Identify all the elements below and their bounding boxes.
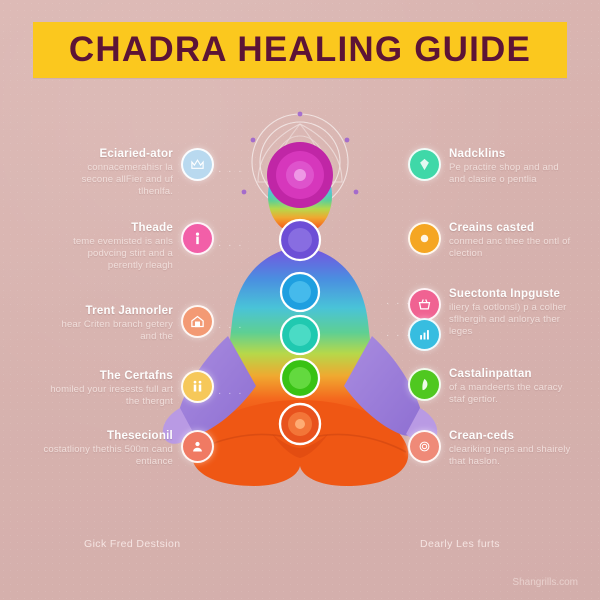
info-text-block: Suectonta Inpguste iliery fa ootlonsl) p… [449, 288, 576, 338]
info-body: iliery fa ootlonsl) p a colher sflhergih… [449, 302, 576, 338]
chakra-heart [281, 316, 319, 354]
info-text-block: Crean-ceds cleariking neps and shairely … [449, 430, 576, 468]
info-item-right-4[interactable]: Castalinpattan of a mandeerts the caracy… [408, 368, 576, 406]
footer-right-label: Dearly Les furts [420, 538, 500, 550]
info-body: teme evemisted is anls podvcing stirt an… [56, 236, 173, 272]
chakra-sacral [280, 404, 320, 444]
connector-dots-3: · · · [218, 322, 244, 333]
info-item-right-1[interactable]: Nadcklins Pe practire shop and and and c… [408, 148, 573, 186]
house-icon [181, 305, 214, 338]
info-text-block: Thesecionil costatliony thethis 500m can… [42, 430, 173, 468]
watermark: Shangrills.com [512, 577, 578, 588]
info-body: conmed anc thee the ontl of clection [449, 236, 573, 260]
info-body: of a mandeerts the caracy staf gertior. [449, 382, 576, 406]
info-item-right-2[interactable]: Creains casted conmed anc thee the ontl … [408, 222, 573, 260]
leaf-icon [408, 368, 441, 401]
info-heading: Trent Jannorler [50, 305, 173, 317]
info-text-block: Creains casted conmed anc thee the ontl … [449, 222, 573, 260]
info-item-left-2[interactable]: Theade teme evemisted is anls podvcing s… [56, 222, 214, 272]
chakra-third-eye [280, 220, 320, 260]
title-banner: CHADRA HEALING GUIDE [33, 22, 567, 78]
info-body: cleariking neps and shairely that haslon… [449, 444, 576, 468]
info-body: homiled your iresests full art the therg… [44, 384, 173, 408]
info-text-block: The Certafns homiled your iresests full … [44, 370, 173, 408]
info-heading: Eciaried-ator [56, 148, 173, 160]
info-item-left-5[interactable]: Thesecionil costatliony thethis 500m can… [42, 430, 214, 468]
crown-icon [181, 148, 214, 181]
info-heading: Theade [56, 222, 173, 234]
chart-icon [408, 318, 441, 351]
info-heading: Crean-ceds [449, 430, 576, 442]
info-text-block: Castalinpattan of a mandeerts the caracy… [449, 368, 576, 406]
info-text-block: Theade teme evemisted is anls podvcing s… [56, 222, 173, 272]
info-text-block: Nadcklins Pe practire shop and and and c… [449, 148, 573, 186]
info-body: connacemerahisr la secone allFier and uf… [56, 162, 173, 198]
connector-dots-6: · · · [386, 330, 412, 341]
chakra-throat [281, 273, 319, 311]
info-body: costatliony thethis 500m cand entiance [42, 444, 173, 468]
connector-dots-1: · · · [218, 166, 244, 177]
info-heading: Thesecionil [42, 430, 173, 442]
sun-icon [408, 222, 441, 255]
basket-icon [408, 288, 441, 321]
info-body: Pe practire shop and and and clasire o p… [449, 162, 573, 186]
info-item-right-5[interactable]: Crean-ceds cleariking neps and shairely … [408, 430, 576, 468]
info-text-block: Eciaried-ator connacemerahisr la secone … [56, 148, 173, 198]
footer-left-label: Gick Fred Destsion [84, 538, 180, 550]
seal-icon [181, 430, 214, 463]
info-item-left-1[interactable]: Eciaried-ator connacemerahisr la secone … [56, 148, 214, 198]
person-icon [181, 222, 214, 255]
info-heading: Nadcklins [449, 148, 573, 160]
chakra-crown [262, 137, 338, 213]
gem-icon [408, 148, 441, 181]
page-title: CHADRA HEALING GUIDE [69, 30, 531, 70]
info-heading: Creains casted [449, 222, 573, 234]
info-body: hear Criten branch getery and the [50, 319, 173, 343]
connector-dots-4: · · · [218, 388, 244, 399]
connector-dots-2: · · · [218, 240, 244, 251]
info-heading: Castalinpattan [449, 368, 576, 380]
info-heading: The Certafns [44, 370, 173, 382]
spiral-icon [408, 430, 441, 463]
info-item-left-3[interactable]: Trent Jannorler hear Criten branch geter… [50, 305, 214, 343]
info-heading: Suectonta Inpguste [449, 288, 576, 300]
info-text-block: Trent Jannorler hear Criten branch geter… [50, 305, 173, 343]
info-item-left-4[interactable]: The Certafns homiled your iresests full … [44, 370, 214, 408]
poster-canvas: CHADRA HEALING GUIDE [0, 0, 600, 600]
chakra-solar-plexus [281, 359, 319, 397]
two-people-icon [181, 370, 214, 403]
